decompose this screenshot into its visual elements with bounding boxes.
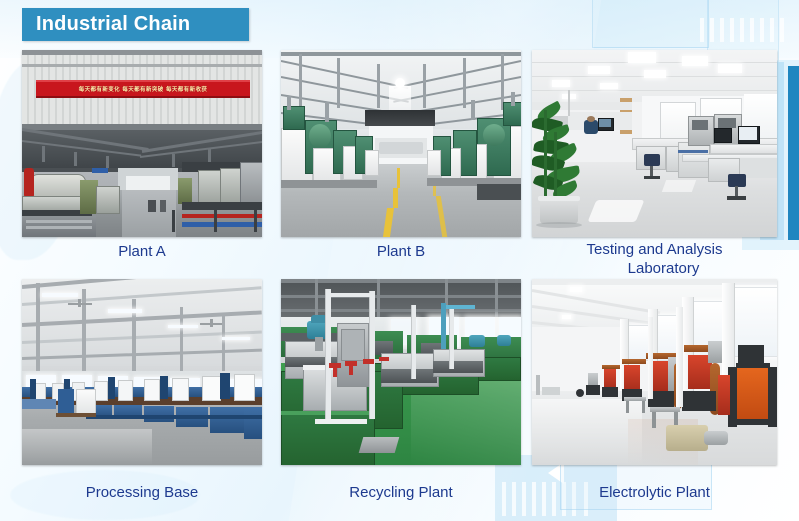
background-bar-right-accent bbox=[788, 66, 799, 240]
power-cabinet bbox=[736, 363, 770, 419]
gallery-item-processing-base[interactable]: Processing Base bbox=[22, 279, 262, 504]
caption-processing-base: Processing Base bbox=[22, 483, 262, 502]
caption-recycling-plant: Recycling Plant bbox=[281, 483, 521, 502]
gallery-item-recycling-plant[interactable]: Recycling Plant bbox=[281, 279, 521, 504]
photo-electrolytic-plant[interactable] bbox=[532, 279, 777, 465]
ceiling-light bbox=[552, 80, 570, 87]
page-title-banner: Industrial Chain bbox=[22, 8, 249, 41]
photo-recycling-plant[interactable] bbox=[281, 279, 521, 465]
caption-line: Testing and Analysis bbox=[532, 240, 777, 259]
background-rect-top-right bbox=[592, 0, 709, 48]
ceiling-light bbox=[570, 287, 582, 292]
caption-line: Processing Base bbox=[22, 483, 262, 502]
caption-line: Laboratory bbox=[532, 259, 777, 278]
ceiling-light bbox=[644, 70, 666, 78]
caption-line: Plant A bbox=[22, 242, 262, 261]
photo-processing-base[interactable] bbox=[22, 279, 262, 465]
ceiling-light bbox=[628, 52, 656, 63]
caption-plant-a: Plant A bbox=[22, 242, 262, 261]
floor-plate bbox=[359, 437, 400, 453]
photo-testing-lab[interactable] bbox=[532, 50, 777, 237]
ceiling-light bbox=[682, 56, 708, 66]
caption-plant-b: Plant B bbox=[281, 242, 521, 261]
caption-electrolytic-plant: Electrolytic Plant bbox=[532, 483, 777, 502]
photo-plant-a[interactable]: 每天都有新变化 每天都有新突破 每天都有新收获 bbox=[22, 50, 262, 237]
ceiling-light bbox=[588, 66, 610, 74]
caption-line: Recycling Plant bbox=[281, 483, 521, 502]
page-title: Industrial Chain bbox=[22, 13, 190, 36]
gallery-item-plant-b[interactable]: Plant B bbox=[281, 50, 521, 262]
workshop-banner-text: 每天都有新变化 每天都有新突破 每天都有新收获 bbox=[79, 85, 208, 93]
caption-testing-lab: Testing and Analysis Laboratory bbox=[532, 240, 777, 278]
caption-line: Electrolytic Plant bbox=[532, 483, 777, 502]
valve-handle bbox=[379, 357, 389, 361]
ceiling-light bbox=[562, 315, 571, 319]
background-stripes-top bbox=[700, 18, 792, 42]
sandbag bbox=[666, 425, 708, 451]
valve-handle bbox=[363, 359, 374, 364]
ceiling-light bbox=[600, 83, 618, 89]
photo-plant-b[interactable] bbox=[281, 50, 521, 237]
gallery-item-electrolytic-plant[interactable]: Electrolytic Plant bbox=[532, 279, 777, 504]
plant-pot bbox=[540, 198, 578, 224]
ceiling-light bbox=[718, 64, 742, 73]
gallery-item-testing-lab[interactable]: Testing and Analysis Laboratory bbox=[532, 50, 777, 262]
lab-chair bbox=[644, 154, 660, 166]
workshop-banner: 每天都有新变化 每天都有新突破 每天都有新收获 bbox=[36, 80, 250, 98]
gallery-item-plant-a[interactable]: 每天都有新变化 每天都有新突破 每天都有新收获 bbox=[22, 50, 262, 262]
caption-line: Plant B bbox=[281, 242, 521, 261]
